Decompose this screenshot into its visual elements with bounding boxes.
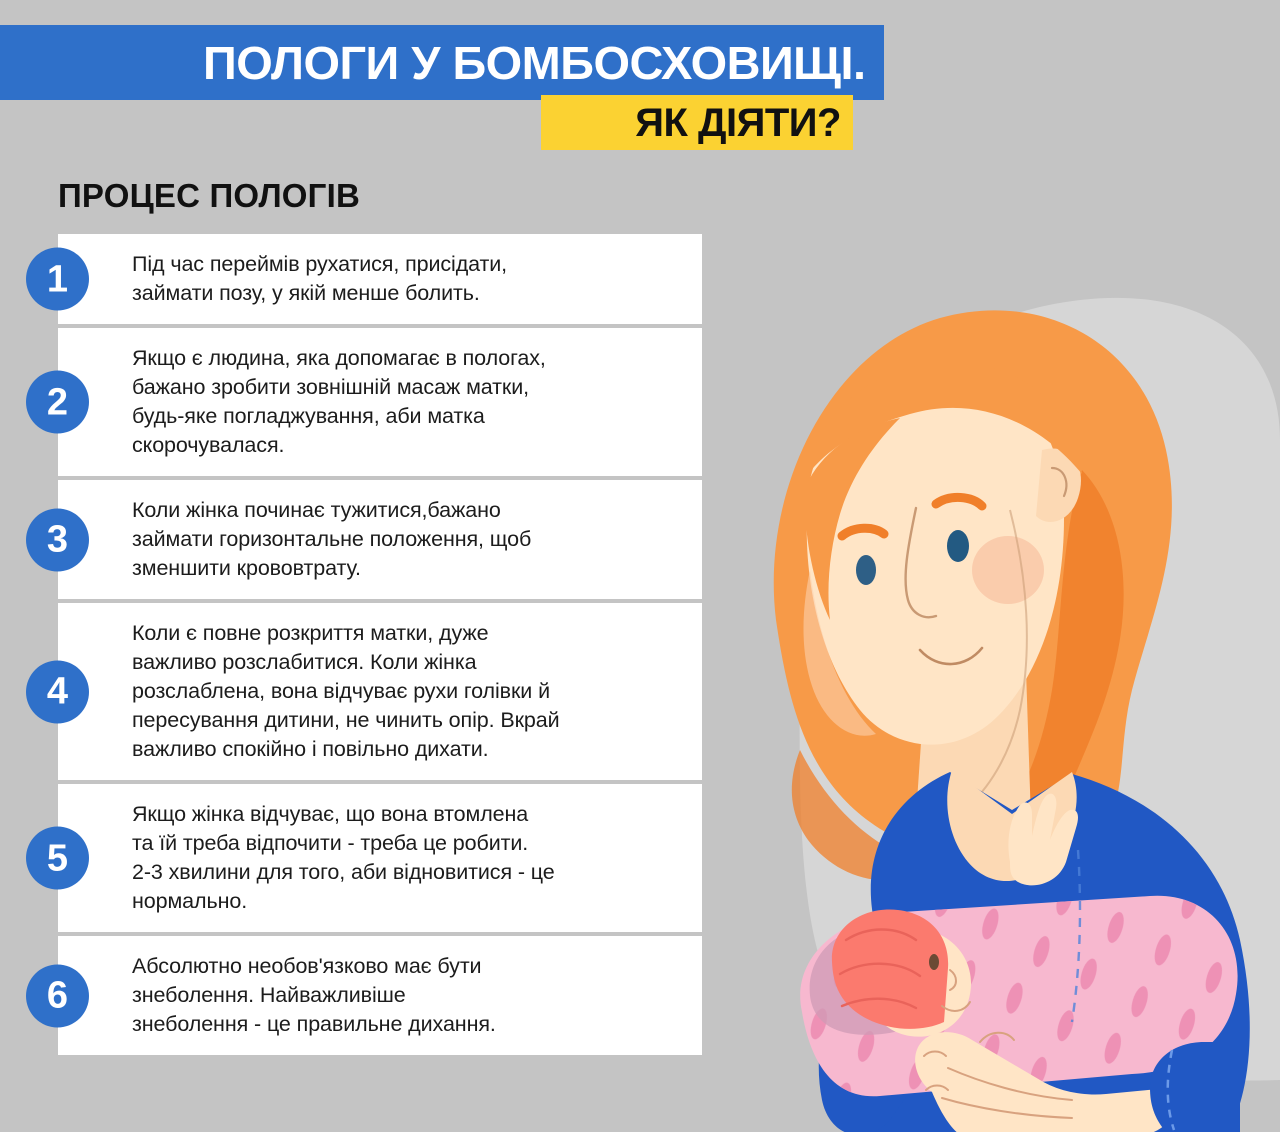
list-item: 3 Коли жінка починає тужитися,бажано зай… (58, 480, 702, 599)
step-number-badge: 5 (26, 827, 89, 890)
section-title: ПРОЦЕС ПОЛОГІВ (58, 176, 360, 216)
step-text: Коли жінка починає тужитися,бажано займа… (132, 496, 531, 583)
list-item: 2 Якщо є людина, яка допомагає в пологах… (58, 328, 702, 476)
subtitle-band: ЯК ДІЯТИ? (541, 95, 853, 150)
title-band: ПОЛОГИ У БОМБОСХОВИЩІ. (0, 25, 884, 100)
steps-list: 1 Під час переймів рухатися, присідати, … (58, 234, 702, 1059)
list-item: 4 Коли є повне розкриття матки, дуже важ… (58, 603, 702, 780)
step-number-badge: 6 (26, 964, 89, 1027)
step-number-badge: 2 (26, 371, 89, 434)
step-text: Якщо жінка відчуває, що вона втомлена та… (132, 800, 555, 916)
eye-left (856, 555, 876, 585)
step-number-badge: 4 (26, 660, 89, 723)
page-subtitle: ЯК ДІЯТИ? (635, 103, 841, 143)
list-item: 5 Якщо жінка відчуває, що вона втомлена … (58, 784, 702, 932)
step-text: Коли є повне розкриття матки, дуже важли… (132, 619, 560, 764)
page-header: ПОЛОГИ У БОМБОСХОВИЩІ. ЯК ДІЯТИ? (0, 0, 1280, 168)
page-title: ПОЛОГИ У БОМБОСХОВИЩІ. (203, 40, 866, 86)
list-item: 1 Під час переймів рухатися, присідати, … (58, 234, 702, 324)
step-number-badge: 1 (26, 248, 89, 311)
step-text: Під час переймів рухатися, присідати, за… (132, 250, 507, 308)
cheek-blush (972, 536, 1044, 604)
list-item: 6 Абсолютно необов'язково має бути знебо… (58, 936, 702, 1055)
step-text: Якщо є людина, яка допомагає в пологах, … (132, 344, 546, 460)
step-text: Абсолютно необов'язково має бути знеболе… (132, 952, 496, 1039)
eye-right (947, 530, 969, 562)
mother-and-baby-illustration (680, 150, 1280, 1132)
baby-eye (929, 954, 939, 970)
step-number-badge: 3 (26, 508, 89, 571)
